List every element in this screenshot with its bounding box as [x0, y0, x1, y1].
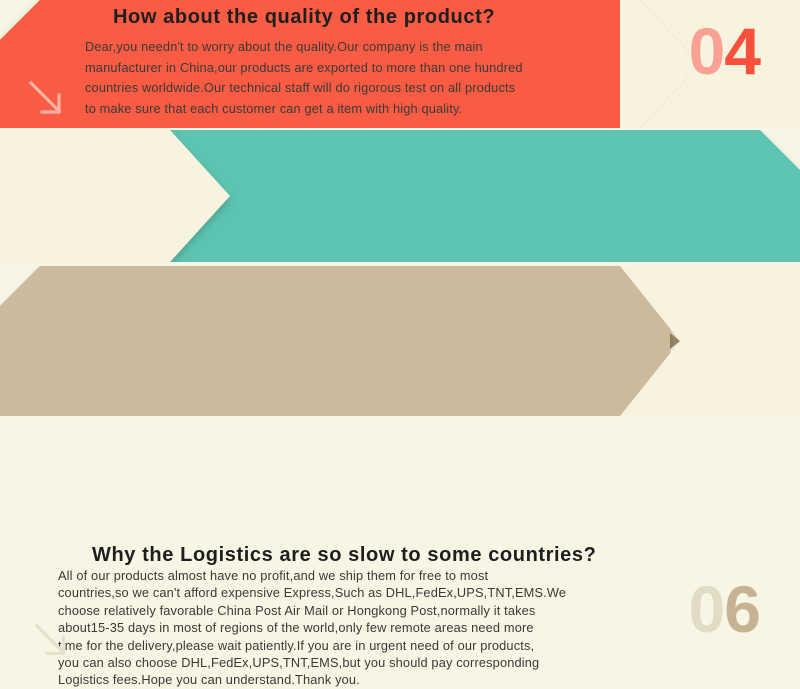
- section-title-04: How about the quality of the product?: [113, 6, 495, 29]
- faq-infographic: How about the quality of the product? De…: [0, 0, 800, 430]
- section-number-06: 06: [689, 576, 760, 642]
- number-digit: 0: [689, 14, 725, 88]
- body-line: Logistics fees.Hope you can understand.T…: [58, 671, 566, 688]
- faq-section-04: How about the quality of the product? De…: [0, 0, 800, 128]
- body-line: you can also choose DHL,FedEx,UPS,TNT,EM…: [58, 654, 566, 671]
- body-line: time for the delivery,please wait patien…: [58, 637, 566, 654]
- body-line: countries,so we can't afford expensive E…: [58, 584, 566, 601]
- arrow-down-right-icon: [32, 621, 72, 661]
- section-number-04: 04: [689, 18, 760, 84]
- body-line: countries worldwide.Our technical staff …: [85, 78, 523, 99]
- body-line: All of our products almost have no profi…: [58, 567, 566, 584]
- banner-shape-05: [0, 130, 800, 262]
- section-body-04: Dear,you needn't to worry about the qual…: [85, 37, 523, 119]
- number-digit: 6: [724, 572, 760, 646]
- number-digit: 0: [689, 572, 725, 646]
- banner-shape-06: [0, 266, 800, 416]
- section-title-06: Why the Logistics are so slow to some co…: [92, 544, 596, 567]
- body-line: manufacturer in China,our products are e…: [85, 58, 523, 79]
- body-line: to make sure that each customer can get …: [85, 99, 523, 120]
- faq-section-05: What if i am dissatisfied with the produ…: [0, 130, 800, 262]
- arrow-down-right-icon: [26, 78, 68, 120]
- body-line: Dear,you needn't to worry about the qual…: [85, 37, 523, 58]
- number-digit: 4: [724, 14, 760, 88]
- faq-section-06: Why the Logistics are so slow to some co…: [0, 266, 800, 416]
- body-line: about15-35 days in most of regions of th…: [58, 619, 566, 636]
- body-line: choose relatively favorable China Post A…: [58, 602, 566, 619]
- section-body-06: All of our products almost have no profi…: [58, 567, 566, 689]
